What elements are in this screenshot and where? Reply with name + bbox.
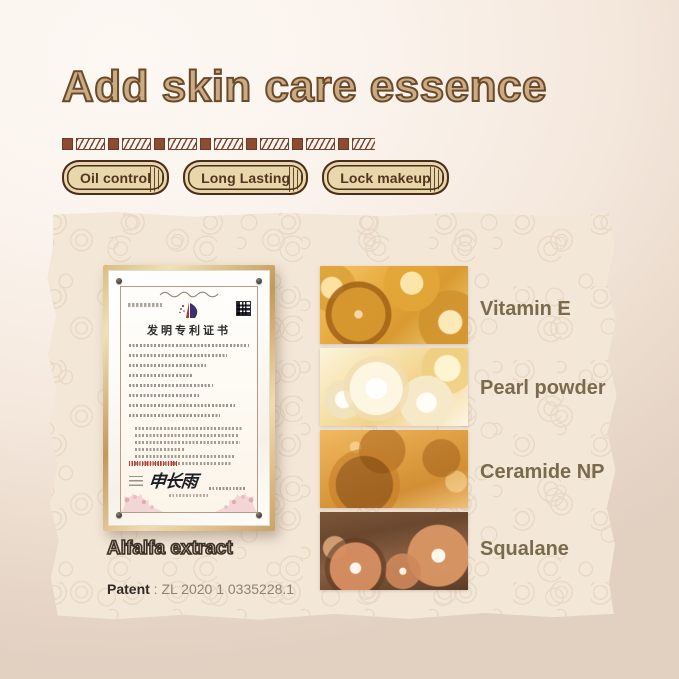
- ingredient-label-squalane: Squalane: [480, 538, 569, 561]
- certificate-text-line: [135, 427, 243, 430]
- ingredient-image-squalane: [320, 512, 468, 590]
- patent-office-logo-icon: [176, 299, 202, 319]
- floral-ornament-icon: [121, 478, 163, 512]
- pattern-square-icon: [292, 138, 303, 150]
- patent-number: ZL 2020 1 0335228.1: [161, 581, 294, 597]
- pattern-hatch-icon: [260, 138, 289, 150]
- certificate-field-line: [129, 344, 249, 347]
- patent-separator: :: [150, 581, 162, 597]
- certificate-text-line: [135, 448, 184, 451]
- flourish-ornament-icon: [158, 290, 220, 299]
- pattern-square-icon: [200, 138, 211, 150]
- certificate-field-lines: [129, 344, 249, 424]
- certificate-text-line: [135, 441, 240, 444]
- certificate-field-line: [129, 364, 206, 367]
- qr-code-icon: [236, 301, 251, 316]
- certificate-glass: 发明专利证书: [108, 270, 270, 526]
- certificate-field-line: [129, 414, 220, 417]
- decorative-pattern-bar: [62, 136, 375, 151]
- page-title: Add skin care essence: [62, 62, 547, 112]
- patent-number-text: Patent : ZL 2020 1 0335228.1: [107, 581, 294, 597]
- extract-name: Alfalfa extract: [107, 538, 233, 560]
- patent-certificate-frame: 发明专利证书: [103, 265, 275, 531]
- ingredient-image-ceramide-np: [320, 430, 468, 508]
- ingredient-image-vitamin-e: [320, 266, 468, 344]
- feature-tag-label: Long Lasting: [201, 170, 290, 186]
- pattern-hatch-icon: [306, 138, 335, 150]
- pattern-square-icon: [246, 138, 257, 150]
- ingredient-label-pearl-powder: Pearl powder: [480, 377, 606, 400]
- feature-tag-oil-control: Oil control: [62, 160, 169, 195]
- floral-ornament-icon: [215, 478, 257, 512]
- ingredient-image-strips: [320, 266, 468, 594]
- pattern-square-icon: [62, 138, 73, 150]
- feature-tag-lock-makeup: Lock makeup: [322, 160, 449, 195]
- product-poster: Add skin care essence Oil control Long L…: [0, 0, 679, 679]
- patent-label: Patent: [107, 581, 150, 597]
- pattern-square-icon: [338, 138, 349, 150]
- pattern-hatch-icon: [122, 138, 151, 150]
- screw-icon: [256, 278, 262, 284]
- feature-tag-label: Oil control: [80, 170, 151, 186]
- certificate-barcode: [129, 461, 177, 466]
- certificate-title: 发明专利证书: [121, 322, 257, 338]
- ingredient-label-vitamin-e: Vitamin E: [480, 298, 571, 321]
- certificate-text-line: [135, 455, 236, 458]
- pattern-hatch-icon: [168, 138, 197, 150]
- pattern-hatch-icon: [214, 138, 243, 150]
- ingredient-label-ceramide-np: Ceramide NP: [480, 461, 605, 484]
- feature-tag-long-lasting: Long Lasting: [183, 160, 308, 195]
- ingredient-image-pearl-powder: [320, 348, 468, 426]
- feature-tag-list: Oil control Long Lasting Lock makeup: [62, 160, 449, 195]
- certificate-text-line: [135, 434, 238, 437]
- pattern-hatch-icon: [76, 138, 105, 150]
- feature-tag-label: Lock makeup: [340, 170, 431, 186]
- certificate-field-line: [129, 374, 194, 377]
- pattern-hatch-icon: [352, 138, 375, 150]
- certificate-field-line: [129, 404, 235, 407]
- certificate-issuer-line: [128, 303, 162, 307]
- certificate-field-line: [129, 354, 227, 357]
- certificate-document: 发明专利证书: [120, 286, 258, 513]
- pattern-square-icon: [108, 138, 119, 150]
- pattern-square-icon: [154, 138, 165, 150]
- certificate-field-line: [129, 394, 199, 397]
- certificate-field-line: [129, 384, 213, 387]
- screw-icon: [116, 278, 122, 284]
